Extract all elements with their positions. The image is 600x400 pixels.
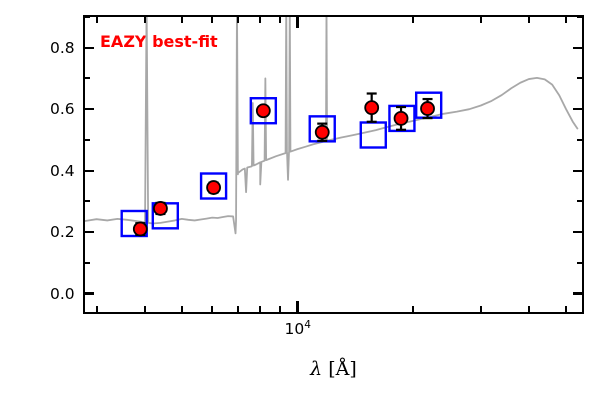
y-tick-major-0 — [85, 292, 94, 294]
observed-flux-point-7[interactable] — [421, 102, 434, 115]
x-tick-major-top-0 — [296, 17, 298, 28]
y-tick-major-right-4 — [573, 47, 582, 49]
x-axis-label-units: [Å] — [328, 358, 357, 380]
axis-spine-top — [83, 15, 584, 17]
observed-flux-point-0[interactable] — [134, 223, 147, 236]
x-axis-label-symbol: λ — [310, 358, 322, 380]
x-tick-minor-top — [211, 17, 213, 23]
x-tick-minor-top — [565, 17, 567, 23]
x-tick-minor — [279, 306, 281, 312]
observed-flux-point-2[interactable] — [207, 181, 220, 194]
x-tick-minor — [144, 306, 146, 312]
y-tick-label-3: 0.6 — [50, 100, 75, 118]
y-tick-major-4 — [85, 47, 94, 49]
x-tick-minor — [181, 306, 183, 312]
x-tick-minor — [259, 306, 261, 312]
y-tick-minor-right — [577, 262, 582, 264]
y-tick-minor-right — [577, 200, 582, 202]
x-tick-minor-top — [279, 17, 281, 23]
y-tick-minor — [85, 139, 90, 141]
y-tick-major-right-2 — [573, 170, 582, 172]
y-tick-minor — [85, 77, 90, 79]
y-tick-minor — [85, 16, 90, 18]
model-flux-square-5[interactable] — [361, 123, 386, 148]
x-tick-major-0 — [296, 301, 298, 312]
y-tick-minor-right — [577, 16, 582, 18]
observed-flux-point-5[interactable] — [365, 101, 378, 114]
figure-canvas: fν [arbitrarily scaled] λ [Å] EAZY best-… — [0, 0, 600, 400]
y-tick-minor — [85, 262, 90, 264]
y-tick-minor — [85, 200, 90, 202]
y-tick-minor-right — [577, 139, 582, 141]
x-tick-minor — [211, 306, 213, 312]
y-tick-major-right-1 — [573, 231, 582, 233]
x-tick-minor-top — [412, 17, 414, 23]
x-tick-minor-top — [96, 17, 98, 23]
x-tick-minor — [412, 306, 414, 312]
x-tick-minor — [565, 306, 567, 312]
observed-flux-point-6[interactable] — [395, 112, 408, 125]
axis-spine-right — [582, 15, 584, 314]
x-tick-minor — [480, 306, 482, 312]
y-tick-label-0: 0.0 — [50, 285, 75, 303]
x-tick-minor — [96, 306, 98, 312]
chart-svg — [85, 17, 582, 312]
axis-spine-left — [83, 15, 85, 314]
y-tick-label-4: 0.8 — [50, 39, 75, 57]
x-tick-minor-top — [237, 17, 239, 23]
x-tick-minor — [237, 306, 239, 312]
x-tick-minor-top — [144, 17, 146, 23]
axis-spine-bottom — [83, 312, 584, 314]
y-tick-major-1 — [85, 231, 94, 233]
y-tick-major-right-0 — [573, 292, 582, 294]
y-tick-major-3 — [85, 108, 94, 110]
x-tick-minor-top — [528, 17, 530, 23]
x-tick-minor-top — [480, 17, 482, 23]
y-tick-major-2 — [85, 170, 94, 172]
x-tick-minor-top — [259, 17, 261, 23]
model-photometry-group — [122, 93, 441, 236]
observed-flux-point-3[interactable] — [257, 104, 270, 117]
observed-flux-point-4[interactable] — [316, 126, 329, 139]
x-tick-label-0: 104 — [284, 319, 310, 338]
observed-flux-point-1[interactable] — [154, 202, 167, 215]
y-tick-label-1: 0.2 — [50, 223, 75, 241]
x-axis-label: λ [Å] — [85, 358, 582, 380]
y-tick-label-2: 0.4 — [50, 162, 75, 180]
y-tick-minor-right — [577, 77, 582, 79]
x-tick-minor-top — [181, 17, 183, 23]
x-tick-minor — [528, 306, 530, 312]
y-tick-major-right-3 — [573, 108, 582, 110]
plot-area — [85, 17, 582, 312]
